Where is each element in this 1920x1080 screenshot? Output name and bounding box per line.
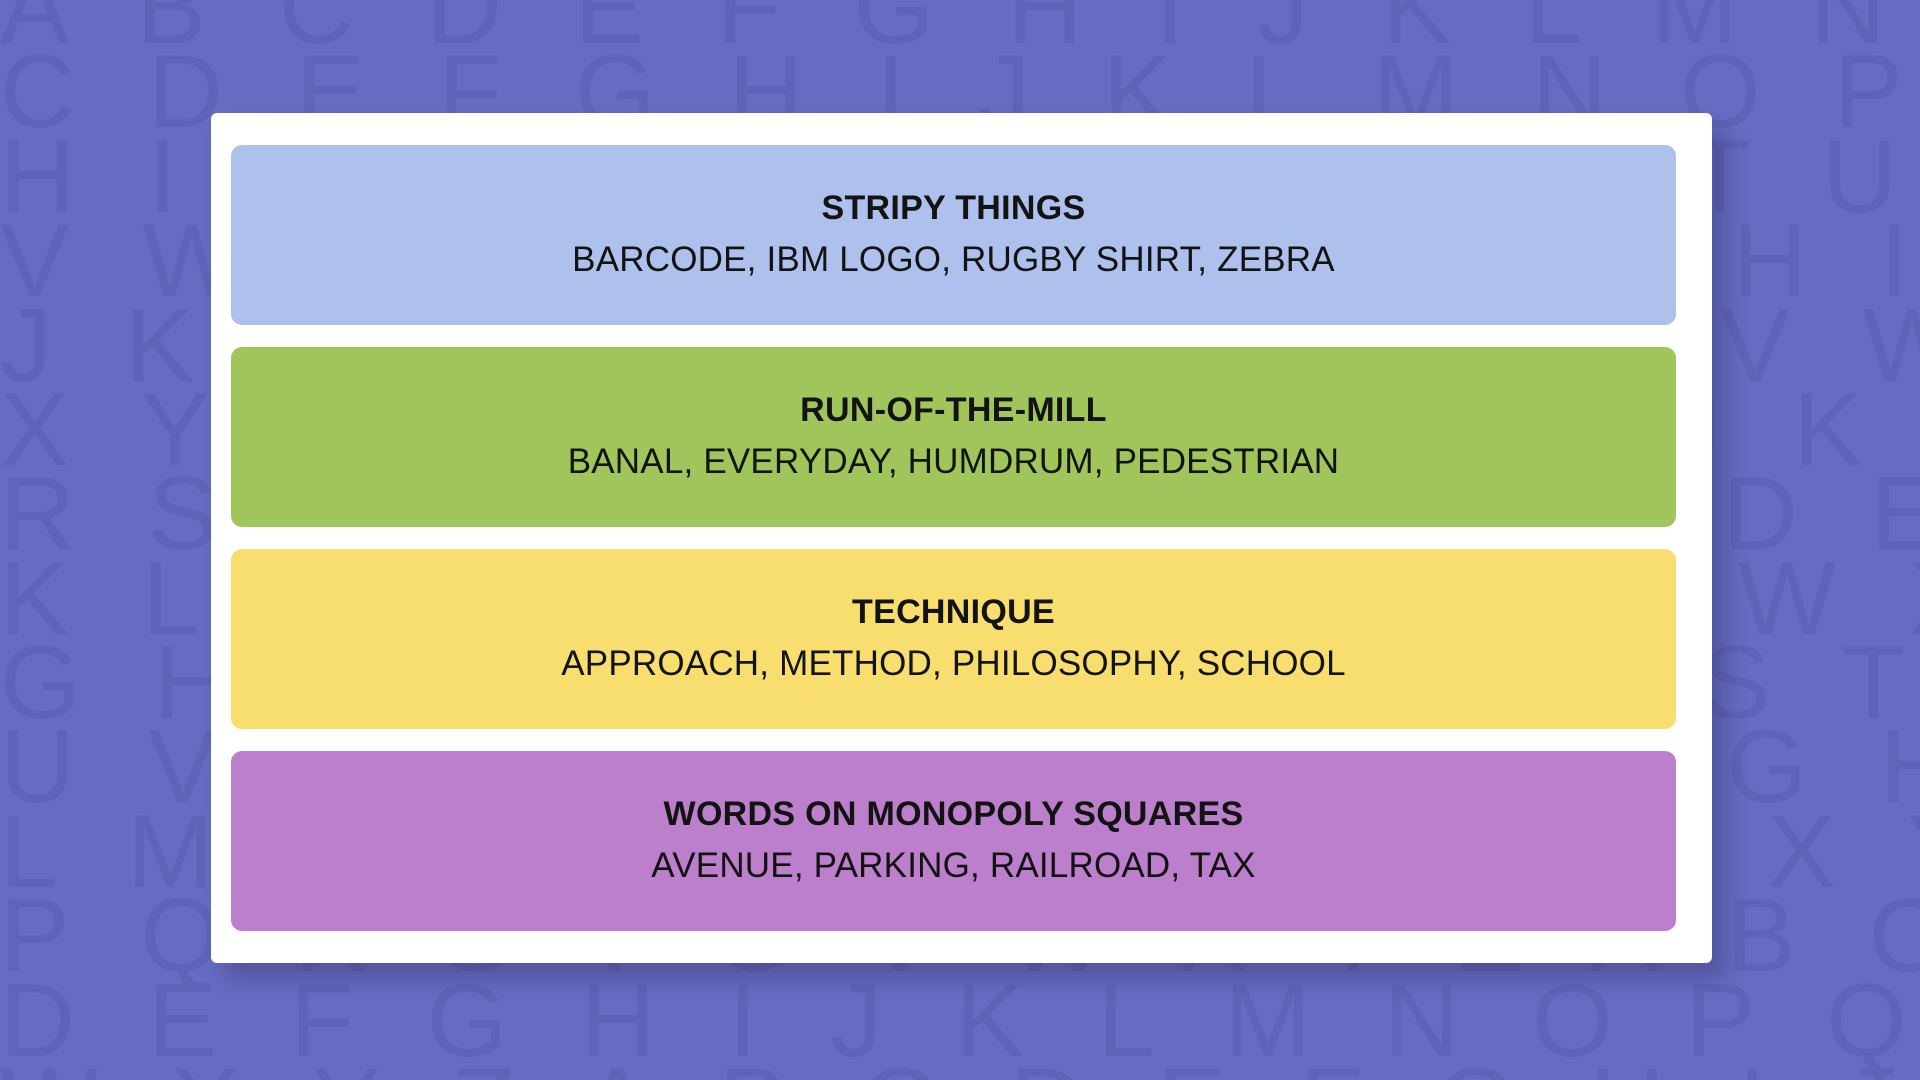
group-members: BANAL, EVERYDAY, HUMDRUM, PEDESTRIAN (568, 441, 1340, 483)
background-letter-row: W X Y Z A B C D E F G H I J K L M N O P … (0, 1053, 1920, 1080)
group-row: TECHNIQUE APPROACH, METHOD, PHILOSOPHY, … (231, 549, 1676, 729)
group-title: RUN-OF-THE-MILL (800, 391, 1107, 430)
group-title: STRIPY THINGS (822, 189, 1086, 228)
group-members: BARCODE, IBM LOGO, RUGBY SHIRT, ZEBRA (572, 239, 1335, 281)
group-row: STRIPY THINGS BARCODE, IBM LOGO, RUGBY S… (231, 145, 1676, 325)
group-row: WORDS ON MONOPOLY SQUARES AVENUE, PARKIN… (231, 751, 1676, 931)
group-row: RUN-OF-THE-MILL BANAL, EVERYDAY, HUMDRUM… (231, 347, 1676, 527)
group-title: TECHNIQUE (852, 593, 1055, 632)
group-members: AVENUE, PARKING, RAILROAD, TAX (651, 845, 1255, 887)
group-members: APPROACH, METHOD, PHILOSOPHY, SCHOOL (561, 643, 1346, 685)
group-title: WORDS ON MONOPOLY SQUARES (664, 795, 1244, 834)
connections-results-panel: STRIPY THINGS BARCODE, IBM LOGO, RUGBY S… (211, 113, 1712, 963)
